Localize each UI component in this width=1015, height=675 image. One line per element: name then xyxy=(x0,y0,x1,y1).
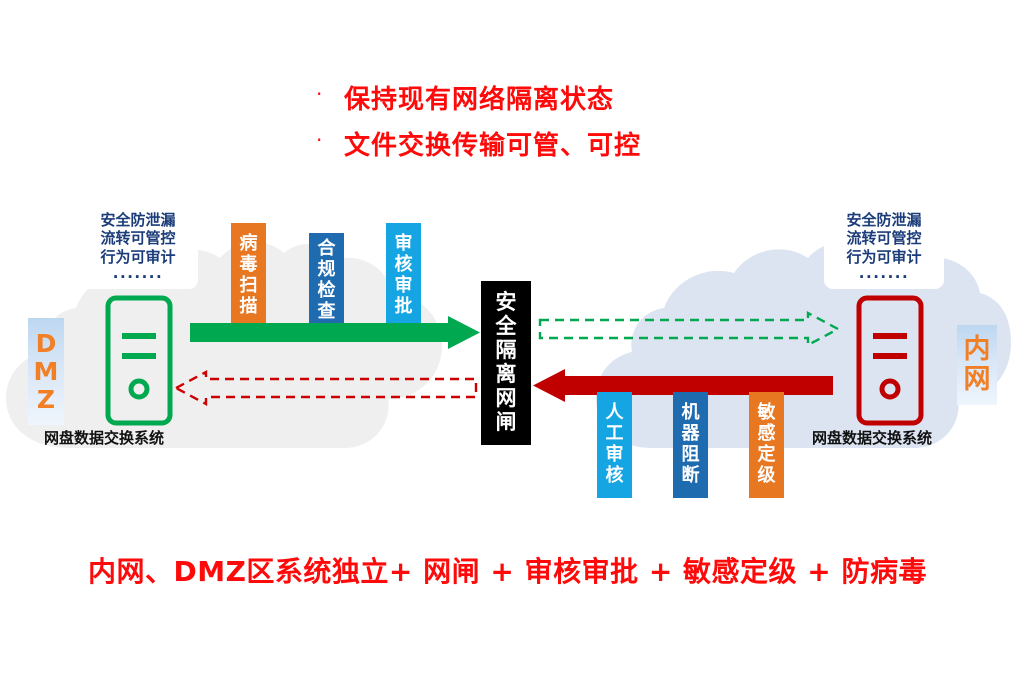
chip-manual-review-char-2: 工 xyxy=(606,424,624,445)
bullet-marker-icon: · xyxy=(316,130,336,150)
intranet-callout-line-3: 行为可审计 xyxy=(832,248,936,266)
chip-sensitivity-char-4: 级 xyxy=(758,466,776,487)
chip-virus-scan: 病 毒 扫 描 xyxy=(231,223,266,329)
gateway-char-2: 全 xyxy=(496,315,517,339)
chip-virus-scan-char-4: 描 xyxy=(240,297,258,318)
chip-review-char-1: 审 xyxy=(395,234,413,255)
gateway-char-1: 安 xyxy=(496,291,517,315)
chip-machine-block: 机 器 阻 断 xyxy=(673,392,708,498)
intranet-callout: 安全防泄漏 流转可管控 行为可审计 ······· xyxy=(824,205,944,289)
chip-sensitivity-grading: 敏 感 定 级 xyxy=(749,392,784,498)
arrow-gateway-to-intranet xyxy=(540,312,838,346)
dmz-callout-line-2: 流转可管控 xyxy=(86,229,190,247)
bullet-item-1: · 保持现有网络隔离状态 xyxy=(316,74,786,120)
gateway-char-6: 闸 xyxy=(496,411,517,435)
chip-compliance-check: 合 规 检 查 xyxy=(309,233,344,329)
gateway-char-5: 网 xyxy=(496,387,517,411)
chip-compliance-char-1: 合 xyxy=(318,239,336,260)
chip-compliance-char-2: 规 xyxy=(318,260,336,281)
chip-manual-review-char-4: 核 xyxy=(606,466,624,487)
dmz-server-icon xyxy=(104,294,174,431)
chip-sensitivity-char-1: 敏 xyxy=(758,403,776,424)
dmz-callout-ellipsis: ······· xyxy=(86,268,190,286)
dmz-callout: 安全防泄漏 流转可管控 行为可审计 ······· xyxy=(78,205,198,289)
chip-virus-scan-char-1: 病 xyxy=(240,234,258,255)
chip-review-char-4: 批 xyxy=(395,297,413,318)
bullet-text-2: 文件交换传输可管、可控 xyxy=(344,125,641,162)
chip-machine-block-char-3: 阻 xyxy=(682,445,700,466)
chip-review-approval: 审 核 审 批 xyxy=(386,223,421,329)
bullet-item-2: · 文件交换传输可管、可控 xyxy=(316,120,786,166)
chip-machine-block-char-2: 器 xyxy=(682,424,700,445)
dmz-callout-line-1: 安全防泄漏 xyxy=(86,211,190,229)
chip-manual-review-char-1: 人 xyxy=(606,403,624,424)
chip-virus-scan-char-3: 扫 xyxy=(240,276,258,297)
zone-tag-char-2: 网 xyxy=(964,365,991,395)
gateway-char-3: 隔 xyxy=(496,339,517,363)
chip-sensitivity-char-2: 感 xyxy=(758,424,776,445)
bullet-list: · 保持现有网络隔离状态 · 文件交换传输可管、可控 xyxy=(316,74,786,166)
chip-review-char-3: 审 xyxy=(395,276,413,297)
intranet-callout-line-2: 流转可管控 xyxy=(832,229,936,247)
chip-compliance-char-3: 检 xyxy=(318,281,336,302)
chip-manual-review: 人 工 审 核 xyxy=(597,392,632,498)
diagram-canvas: · 保持现有网络隔离状态 · 文件交换传输可管、可控 D M Z 安全防泄漏 流… xyxy=(0,0,1015,675)
dmz-callout-line-3: 行为可审计 xyxy=(86,248,190,266)
arrow-dmz-to-gateway xyxy=(190,316,480,349)
dmz-system-caption: 网盘数据交换系统 xyxy=(44,427,164,448)
chip-machine-block-char-4: 断 xyxy=(682,466,700,487)
arrow-gateway-to-dmz xyxy=(176,371,476,405)
zone-tag-letter-m: M xyxy=(34,358,59,386)
zone-tag-intranet: 内 网 xyxy=(957,325,997,405)
footer-summary: 内网、DMZ区系统独立+ 网闸 + 审核审批 + 敏感定级 + 防病毒 xyxy=(0,550,1015,590)
zone-tag-dmz: D M Z xyxy=(28,318,64,425)
zone-tag-char-1: 内 xyxy=(964,335,991,365)
intranet-cloud-shape xyxy=(592,233,1015,463)
chip-virus-scan-char-2: 毒 xyxy=(240,255,258,276)
chip-manual-review-char-3: 审 xyxy=(606,445,624,466)
chip-sensitivity-char-3: 定 xyxy=(758,445,776,466)
intranet-callout-line-1: 安全防泄漏 xyxy=(832,211,936,229)
bullet-text-1: 保持现有网络隔离状态 xyxy=(344,79,614,116)
intranet-callout-ellipsis: ······· xyxy=(832,268,936,286)
intranet-system-caption: 网盘数据交换系统 xyxy=(812,427,932,448)
gateway-char-4: 离 xyxy=(496,363,517,387)
chip-machine-block-char-1: 机 xyxy=(682,403,700,424)
bullet-marker-icon: · xyxy=(316,84,336,104)
zone-tag-letter-d: D xyxy=(36,330,57,358)
security-gateway-box: 安 全 隔 离 网 闸 xyxy=(481,281,531,445)
zone-tag-letter-z: Z xyxy=(37,386,55,414)
chip-review-char-2: 核 xyxy=(395,255,413,276)
intranet-server-icon xyxy=(855,294,925,431)
